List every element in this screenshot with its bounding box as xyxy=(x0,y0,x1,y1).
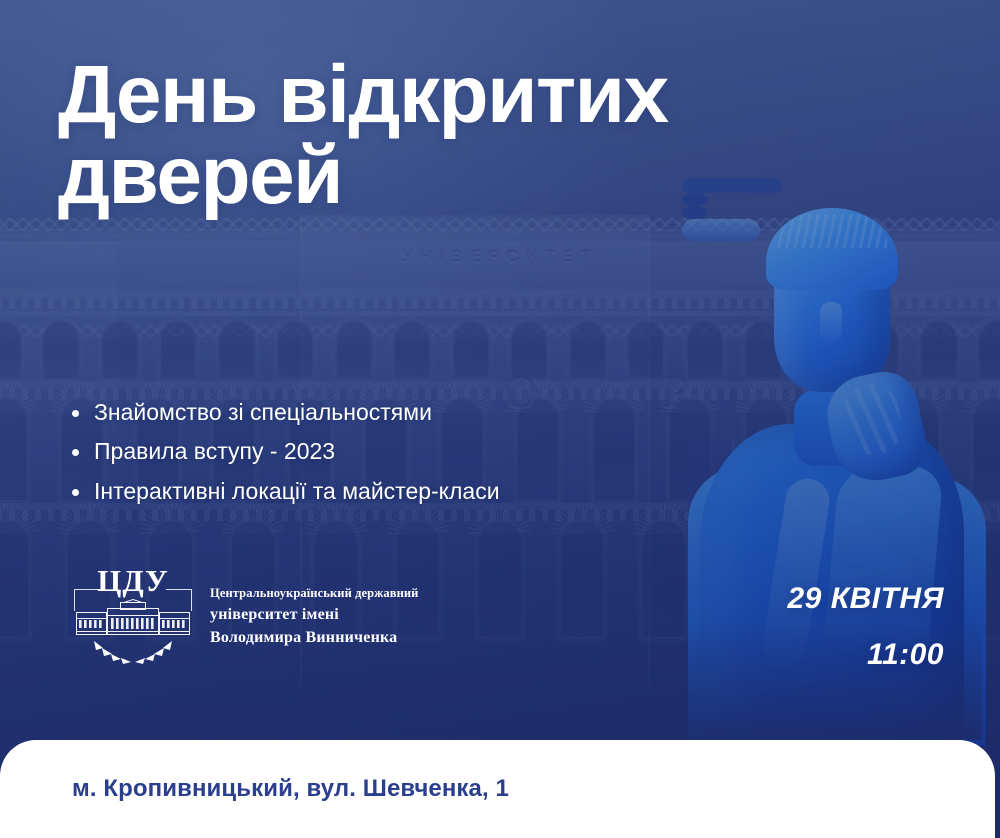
university-logo: ЦДУ xyxy=(72,565,419,669)
university-name: Центральноукраїнський державний універси… xyxy=(210,584,419,649)
emblem-monogram: ЦДУ xyxy=(72,563,194,599)
page-title: День відкритих дверей xyxy=(58,54,938,216)
list-item: Правила вступу - 2023 xyxy=(70,437,500,466)
title-line-1: День відкритих xyxy=(58,54,938,135)
list-item: Знайомство зі спеціальностями xyxy=(70,398,500,427)
poster-content: День відкритих дверей Знайомство зі спец… xyxy=(0,0,1000,838)
event-address: м. Кропивницький, вул. Шевченка, 1 xyxy=(72,775,509,803)
emblem-building-icon xyxy=(76,599,190,637)
event-time: 11:00 xyxy=(787,636,944,674)
open-day-poster: УНІВЕРСИТЕТ xyxy=(0,0,1000,838)
university-name-line-2: університет імені xyxy=(210,603,419,626)
emblem-wreath-icon xyxy=(86,639,180,671)
title-line-2: дверей xyxy=(58,135,938,216)
address-bar: м. Кропивницький, вул. Шевченка, 1 xyxy=(0,740,995,838)
highlights-list: Знайомство зі спеціальностями Правила вс… xyxy=(70,398,500,516)
list-item: Інтерактивні локації та майстер-класи xyxy=(70,477,500,506)
university-name-line-1: Центральноукраїнський державний xyxy=(210,584,419,603)
university-emblem-icon: ЦДУ xyxy=(72,565,194,669)
event-date: 29 КВІТНЯ xyxy=(787,580,944,618)
university-name-line-3: Володимира Винниченка xyxy=(210,626,419,649)
event-datetime: 29 КВІТНЯ 11:00 xyxy=(787,580,944,673)
